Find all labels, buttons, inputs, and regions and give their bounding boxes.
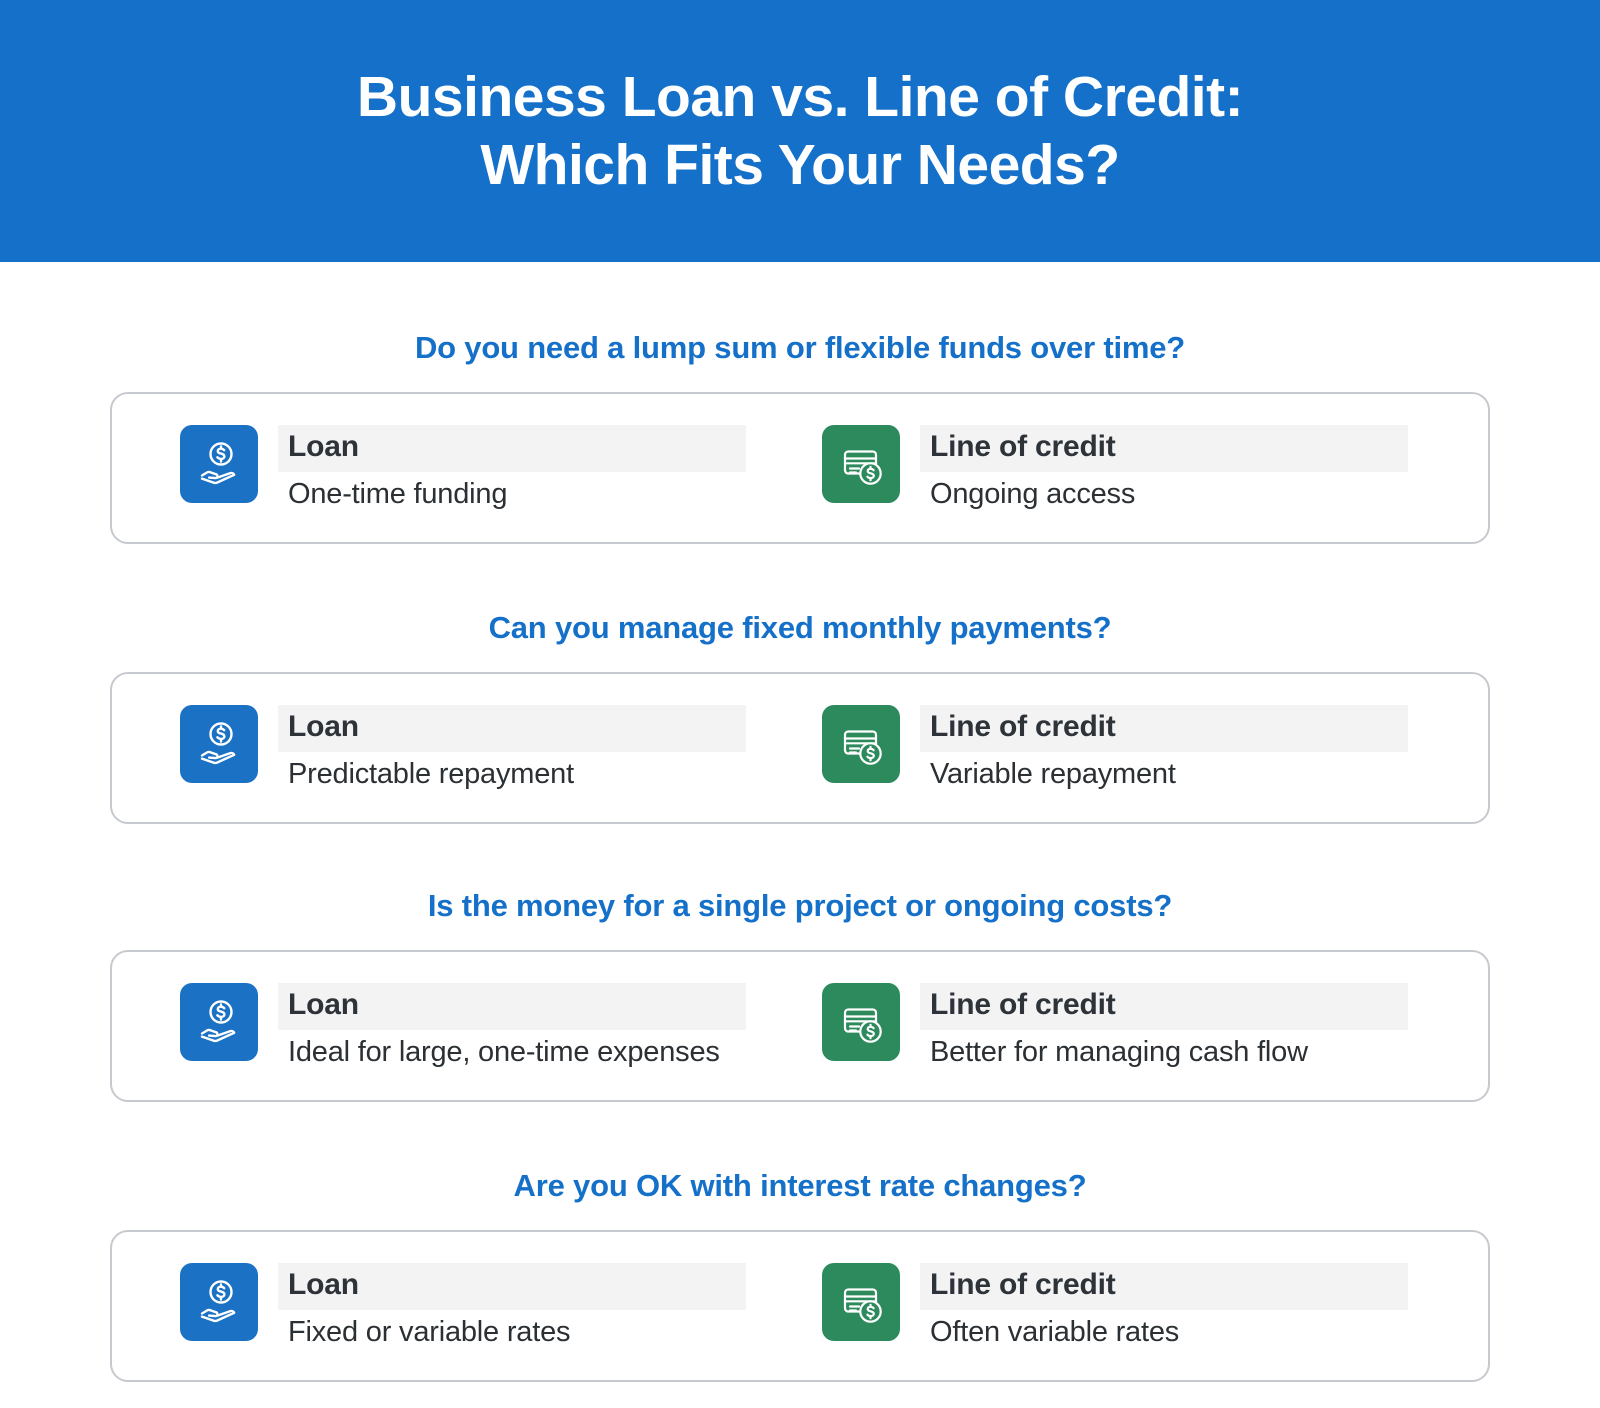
line-of-credit-texts-1: Line of credit Ongoing access — [920, 425, 1492, 510]
credit-card-dollar-icon — [822, 425, 900, 503]
line-of-credit-description-4: Often variable rates — [920, 1310, 1492, 1349]
line-of-credit-label-1: Line of credit — [920, 425, 1408, 471]
header-banner: Business Loan vs. Line of Credit: Which … — [0, 0, 1600, 262]
page-title: Business Loan vs. Line of Credit: Which … — [357, 63, 1243, 200]
credit-card-dollar-icon — [822, 1263, 900, 1341]
line-of-credit-description-3: Better for managing cash flow — [920, 1030, 1492, 1069]
loan-label-4: Loan — [278, 1263, 746, 1309]
question-heading-2: Can you manage fixed monthly payments? — [0, 610, 1600, 646]
question-heading-4: Are you OK with interest rate changes? — [0, 1168, 1600, 1204]
question-heading-3: Is the money for a single project or ong… — [0, 888, 1600, 924]
loan-description-2: Predictable repayment — [278, 752, 802, 791]
loan-texts-1: Loan One-time funding — [278, 425, 802, 510]
loan-label-3: Loan — [278, 983, 746, 1029]
infographic-body: Do you need a lump sum or flexible funds… — [0, 330, 1600, 1382]
hand-holding-dollar-coin-icon — [180, 983, 258, 1061]
line-of-credit-texts-2: Line of credit Variable repayment — [920, 705, 1492, 790]
line-of-credit-column-1: Line of credit Ongoing access — [802, 425, 1492, 510]
line-of-credit-description-1: Ongoing access — [920, 472, 1492, 511]
section-3: Is the money for a single project or ong… — [0, 888, 1600, 1102]
loan-column-4: Loan Fixed or variable rates — [112, 1263, 802, 1348]
comparison-card-3: Loan Ideal for large, one-time expenses — [110, 950, 1490, 1102]
loan-column-2: Loan Predictable repayment — [112, 705, 802, 790]
loan-texts-3: Loan Ideal for large, one-time expenses — [278, 983, 802, 1068]
hand-holding-dollar-coin-icon — [180, 425, 258, 503]
section-2: Can you manage fixed monthly payments? — [0, 610, 1600, 824]
infographic-page: Business Loan vs. Line of Credit: Which … — [0, 0, 1600, 1408]
comparison-card-2: Loan Predictable repayment — [110, 672, 1490, 824]
question-heading-1: Do you need a lump sum or flexible funds… — [0, 330, 1600, 366]
section-4: Are you OK with interest rate changes? — [0, 1168, 1600, 1382]
section-1: Do you need a lump sum or flexible funds… — [0, 330, 1600, 544]
line-of-credit-column-3: Line of credit Better for managing cash … — [802, 983, 1492, 1068]
line-of-credit-column-4: Line of credit Often variable rates — [802, 1263, 1492, 1348]
line-of-credit-texts-4: Line of credit Often variable rates — [920, 1263, 1492, 1348]
loan-column-1: Loan One-time funding — [112, 425, 802, 510]
hand-holding-dollar-coin-icon — [180, 705, 258, 783]
comparison-card-1: Loan One-time funding — [110, 392, 1490, 544]
line-of-credit-label-3: Line of credit — [920, 983, 1408, 1029]
credit-card-dollar-icon — [822, 983, 900, 1061]
comparison-card-4: Loan Fixed or variable rates — [110, 1230, 1490, 1382]
line-of-credit-column-2: Line of credit Variable repayment — [802, 705, 1492, 790]
line-of-credit-label-2: Line of credit — [920, 705, 1408, 751]
line-of-credit-texts-3: Line of credit Better for managing cash … — [920, 983, 1492, 1068]
loan-texts-4: Loan Fixed or variable rates — [278, 1263, 802, 1348]
line-of-credit-label-4: Line of credit — [920, 1263, 1408, 1309]
hand-holding-dollar-coin-icon — [180, 1263, 258, 1341]
loan-texts-2: Loan Predictable repayment — [278, 705, 802, 790]
loan-label-2: Loan — [278, 705, 746, 751]
line-of-credit-description-2: Variable repayment — [920, 752, 1492, 791]
loan-description-3: Ideal for large, one-time expenses — [278, 1030, 802, 1069]
credit-card-dollar-icon — [822, 705, 900, 783]
loan-column-3: Loan Ideal for large, one-time expenses — [112, 983, 802, 1068]
loan-description-1: One-time funding — [278, 472, 802, 511]
loan-description-4: Fixed or variable rates — [278, 1310, 802, 1349]
loan-label-1: Loan — [278, 425, 746, 471]
